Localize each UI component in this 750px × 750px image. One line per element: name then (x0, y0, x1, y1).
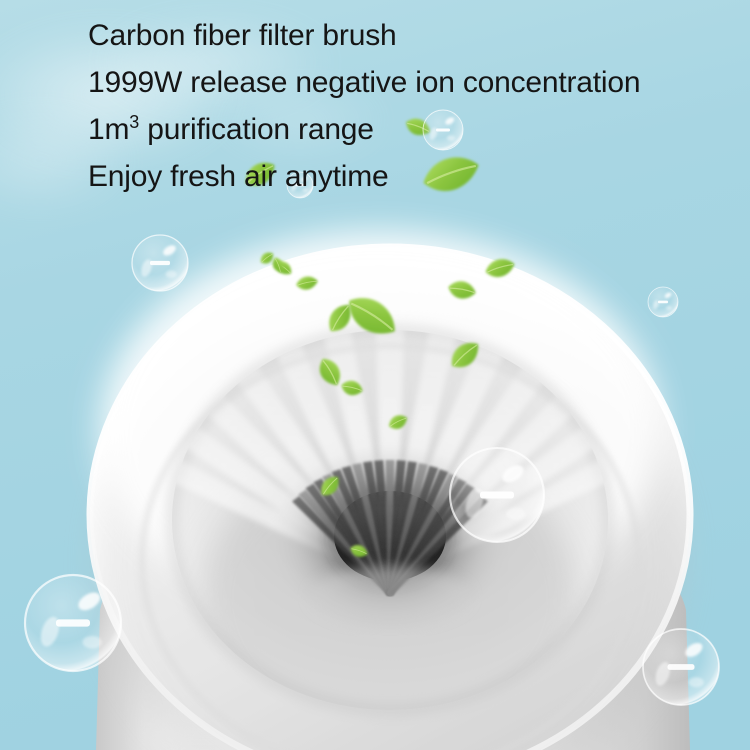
product-scene (0, 0, 750, 750)
bubble-highlight (666, 306, 672, 310)
bubble-4 (450, 448, 544, 542)
cloud-4 (210, 80, 390, 160)
bore-front-lip (310, 566, 470, 626)
bubble-highlight (303, 189, 308, 192)
product-banner: Carbon fiber filter brush 1999W release … (0, 0, 750, 750)
bubble-7 (287, 172, 313, 198)
minus-sign-icon (436, 129, 450, 132)
minus-sign-icon (296, 184, 305, 187)
bubble-2 (423, 110, 463, 150)
minus-sign-icon (668, 664, 695, 670)
bubble-3 (648, 287, 678, 317)
minus-sign-icon (658, 301, 668, 304)
bubble-highlight (447, 135, 455, 140)
minus-sign-icon (150, 261, 170, 265)
bubble-highlight (506, 508, 525, 520)
bubble-highlight (83, 636, 102, 648)
minus-sign-icon (56, 619, 90, 626)
bubble-1 (132, 235, 188, 291)
bubble-highlight (166, 271, 177, 278)
minus-sign-icon (480, 491, 514, 498)
bubble-highlight (689, 677, 704, 687)
bubble-6 (25, 575, 121, 671)
bubble-5 (643, 629, 719, 705)
